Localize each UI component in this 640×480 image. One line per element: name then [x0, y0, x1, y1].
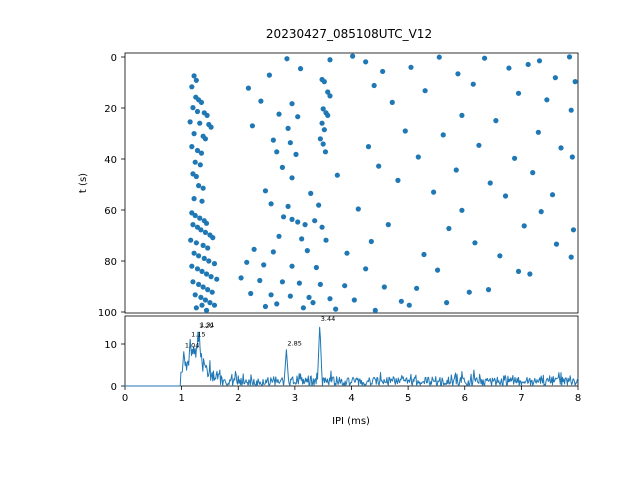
- scatter-point: [198, 162, 203, 167]
- scatter-point: [201, 186, 206, 191]
- scatter-point: [194, 174, 199, 179]
- scatter-point: [289, 101, 294, 106]
- scatter-point: [196, 253, 201, 258]
- scatter-y-tick-80: 80: [104, 257, 117, 268]
- scatter-point: [268, 292, 273, 297]
- scatter-point: [301, 305, 306, 310]
- scatter-point: [271, 249, 276, 254]
- peak-label-1-04: 1.04: [185, 342, 199, 350]
- scatter-point: [195, 109, 200, 114]
- scatter-point: [363, 266, 368, 271]
- scatter-point: [288, 140, 293, 145]
- histogram-x-tick-label-6: 6: [462, 393, 468, 404]
- scatter-point: [299, 236, 304, 241]
- scatter-point: [455, 71, 460, 76]
- scatter-point: [503, 193, 508, 198]
- scatter-point: [318, 282, 323, 287]
- peak-label-3-44: 3.44: [321, 315, 335, 323]
- scatter-point: [376, 164, 381, 169]
- scatter-point: [190, 279, 195, 284]
- scatter-point: [526, 62, 531, 67]
- scatter-point: [194, 240, 199, 245]
- scatter-point: [199, 100, 204, 105]
- matplotlib-figure: 20230427_085108UTC_V12 0 20 40 60 80 100…: [0, 0, 640, 480]
- scatter-point: [196, 183, 201, 188]
- scatter-point: [191, 196, 196, 201]
- figure-background: [0, 0, 640, 480]
- scatter-point: [274, 301, 279, 306]
- scatter-point: [201, 284, 206, 289]
- scatter-point: [386, 222, 391, 227]
- scatter-point: [193, 292, 198, 297]
- scatter-point: [342, 283, 347, 288]
- scatter-point: [454, 167, 459, 172]
- scatter-point: [194, 305, 199, 310]
- scatter-point: [390, 100, 395, 105]
- scatter-point: [191, 251, 196, 256]
- scatter-point: [196, 282, 201, 287]
- scatter-point: [203, 230, 208, 235]
- scatter-point: [276, 112, 281, 117]
- scatter-point: [248, 291, 253, 296]
- scatter-point: [191, 131, 196, 136]
- scatter-point: [263, 304, 268, 309]
- scatter-point: [539, 209, 544, 214]
- scatter-point: [352, 297, 357, 302]
- scatter-point: [257, 278, 262, 283]
- scatter-point: [204, 308, 209, 313]
- histogram-x-tick-label-8: 8: [575, 393, 581, 404]
- scatter-point: [537, 58, 542, 63]
- scatter-point: [280, 279, 285, 284]
- scatter-point: [322, 79, 327, 84]
- scatter-point: [408, 65, 413, 70]
- scatter-point: [205, 287, 210, 292]
- scatter-point: [333, 307, 338, 312]
- scatter-point: [372, 83, 377, 88]
- scatter-point: [194, 78, 199, 83]
- scatter-point: [188, 119, 193, 124]
- scatter-point: [493, 118, 498, 123]
- scatter-point: [201, 243, 206, 248]
- scatter-point: [210, 290, 215, 295]
- scatter-point: [288, 294, 293, 299]
- scatter-point: [198, 227, 203, 232]
- scatter-point: [206, 258, 211, 263]
- scatter-point: [366, 144, 371, 149]
- scatter-point: [188, 238, 193, 243]
- scatter-point: [356, 206, 361, 211]
- scatter-point: [189, 264, 194, 269]
- scatter-point: [306, 295, 311, 300]
- scatter-point: [195, 266, 200, 271]
- scatter-point: [316, 203, 321, 208]
- scatter-y-axis-label: t (s): [78, 173, 89, 193]
- scatter-point: [193, 160, 198, 165]
- scatter-point: [459, 113, 464, 118]
- scatter-point: [516, 269, 521, 274]
- scatter-point: [554, 242, 559, 247]
- histogram-x-axis-label: IPI (ms): [332, 416, 370, 427]
- scatter-point: [258, 99, 263, 104]
- scatter-point: [472, 240, 477, 245]
- scatter-point: [482, 56, 487, 61]
- figure-canvas: 20230427_085108UTC_V12 0 20 40 60 80 100…: [0, 0, 640, 480]
- scatter-point: [497, 253, 502, 258]
- scatter-point: [208, 274, 213, 279]
- scatter-y-tick-60: 60: [104, 206, 117, 217]
- scatter-point: [444, 300, 449, 305]
- scatter-point: [210, 235, 215, 240]
- scatter-point: [567, 54, 572, 59]
- scatter-point: [205, 245, 210, 250]
- scatter-point: [252, 247, 257, 252]
- scatter-point: [522, 223, 527, 228]
- scatter-point: [350, 54, 355, 59]
- scatter-point: [459, 208, 464, 213]
- scatter-point: [190, 105, 195, 110]
- scatter-point: [274, 149, 279, 154]
- histogram-x-tick-label-5: 5: [405, 393, 411, 404]
- scatter-point: [319, 225, 324, 230]
- scatter-point: [530, 170, 535, 175]
- scatter-point: [407, 303, 412, 308]
- scatter-point: [250, 123, 255, 128]
- scatter-point: [471, 82, 476, 87]
- scatter-point: [193, 213, 198, 218]
- histogram-x-tick-label-2: 2: [235, 393, 241, 404]
- scatter-point: [573, 79, 578, 84]
- scatter-point: [267, 73, 272, 78]
- histogram-x-tick-label-7: 7: [518, 393, 524, 404]
- peak-label-1-31: 1.31: [200, 321, 214, 329]
- scatter-point: [314, 265, 319, 270]
- scatter-point: [467, 290, 472, 295]
- scatter-point: [399, 299, 404, 304]
- scatter-point: [327, 93, 332, 98]
- figure-title: 20230427_085108UTC_V12: [266, 27, 432, 41]
- scatter-point: [363, 59, 368, 64]
- scatter-point: [553, 75, 558, 80]
- histogram-y-tick-0: 0: [111, 382, 117, 393]
- scatter-point: [308, 191, 313, 196]
- scatter-point: [302, 222, 307, 227]
- scatter-point: [285, 204, 290, 209]
- scatter-point: [191, 73, 196, 78]
- scatter-point: [212, 261, 217, 266]
- scatter-point: [570, 154, 575, 159]
- scatter-point: [569, 108, 574, 113]
- scatter-point: [305, 248, 310, 253]
- scatter-point: [289, 175, 294, 180]
- scatter-point: [437, 55, 442, 60]
- scatter-point: [327, 57, 332, 62]
- scatter-point: [285, 126, 290, 131]
- scatter-point: [295, 114, 300, 119]
- scatter-point: [318, 136, 323, 141]
- scatter-point: [203, 136, 208, 141]
- scatter-point: [197, 216, 202, 221]
- scatter-point: [204, 271, 209, 276]
- scatter-point: [205, 113, 210, 118]
- scatter-point: [244, 260, 249, 265]
- scatter-point: [312, 218, 317, 223]
- scatter-point: [512, 156, 517, 161]
- scatter-point: [431, 190, 436, 195]
- scatter-point: [284, 56, 289, 61]
- scatter-point: [199, 199, 204, 204]
- scatter-point: [203, 297, 208, 302]
- scatter-point: [280, 165, 285, 170]
- scatter-point: [263, 188, 268, 193]
- scatter-point: [421, 252, 426, 257]
- scatter-point: [189, 84, 194, 89]
- scatter-y-tick-20: 20: [104, 104, 117, 115]
- peak-label-1-15: 1.15: [191, 330, 205, 338]
- peak-label-2-85: 2.85: [287, 340, 301, 348]
- scatter-point: [199, 303, 204, 308]
- scatter-point: [321, 141, 326, 146]
- scatter-point: [295, 219, 300, 224]
- scatter-point: [281, 214, 286, 219]
- scatter-point: [246, 86, 251, 91]
- scatter-point: [261, 262, 266, 267]
- scatter-point: [380, 69, 385, 74]
- scatter-point: [382, 284, 387, 289]
- scatter-point: [441, 132, 446, 137]
- scatter-point: [435, 268, 440, 273]
- scatter-y-tick-0: 0: [111, 53, 117, 64]
- scatter-point: [199, 151, 204, 156]
- scatter-point: [323, 149, 328, 154]
- scatter-point: [544, 97, 549, 102]
- scatter-point: [569, 255, 574, 260]
- scatter-point: [416, 154, 421, 159]
- scatter-point: [197, 121, 202, 126]
- scatter-point: [208, 125, 213, 130]
- scatter-point: [310, 300, 315, 305]
- histogram-x-tick-label-4: 4: [348, 393, 354, 404]
- scatter-point: [268, 201, 273, 206]
- scatter-point: [189, 144, 194, 149]
- scatter-point: [212, 303, 217, 308]
- scatter-point: [369, 239, 374, 244]
- scatter-y-tick-40: 40: [104, 155, 117, 166]
- scatter-point: [204, 221, 209, 226]
- scatter-point: [550, 192, 555, 197]
- scatter-point: [325, 113, 330, 118]
- scatter-point: [403, 128, 408, 133]
- scatter-y-tick-100: 100: [98, 308, 117, 319]
- scatter-point: [327, 296, 332, 301]
- scatter-point: [199, 269, 204, 274]
- scatter-point: [486, 287, 491, 292]
- scatter-point: [506, 65, 511, 70]
- scatter-point: [373, 308, 378, 313]
- scatter-point: [414, 286, 419, 291]
- scatter-point: [276, 234, 281, 239]
- scatter-point: [536, 130, 541, 135]
- scatter-point: [271, 138, 276, 143]
- scatter-point: [516, 91, 521, 96]
- scatter-point: [323, 238, 328, 243]
- scatter-point: [527, 271, 532, 276]
- scatter-point: [293, 152, 298, 157]
- scatter-point: [190, 222, 195, 227]
- scatter-point: [207, 300, 212, 305]
- scatter-point: [202, 256, 207, 261]
- scatter-point: [214, 277, 219, 282]
- scatter-point: [476, 143, 481, 148]
- scatter-point: [423, 88, 428, 93]
- scatter-point: [335, 173, 340, 178]
- scatter-point: [446, 226, 451, 231]
- scatter-point: [298, 66, 303, 71]
- scatter-point: [558, 145, 563, 150]
- histogram-x-tick-label-3: 3: [292, 393, 298, 404]
- scatter-point: [297, 281, 302, 286]
- scatter-point: [344, 251, 349, 256]
- scatter-point: [238, 275, 243, 280]
- scatter-point: [395, 178, 400, 183]
- scatter-point: [319, 121, 324, 126]
- histogram-y-tick-10: 10: [104, 340, 117, 351]
- histogram-x-tick-label-1: 1: [178, 393, 184, 404]
- scatter-point: [571, 227, 576, 232]
- scatter-point: [322, 127, 327, 132]
- scatter-point: [198, 295, 203, 300]
- scatter-point: [289, 264, 294, 269]
- scatter-point: [289, 217, 294, 222]
- scatter-point: [488, 180, 493, 185]
- histogram-x-tick-label-0: 0: [122, 393, 128, 404]
